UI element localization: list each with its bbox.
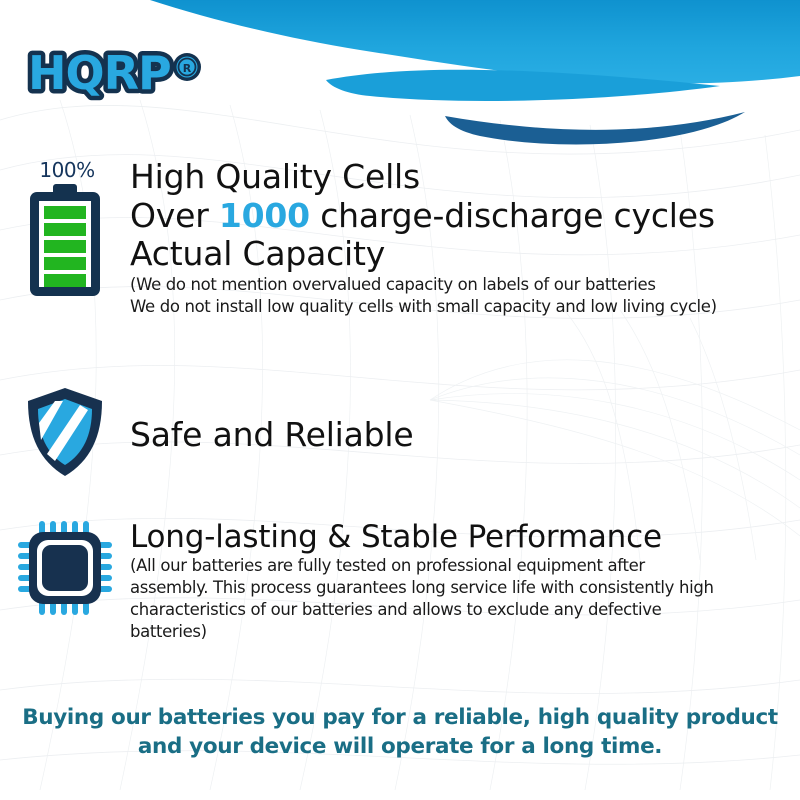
safe-and-reliable-text: Safe and Reliable bbox=[130, 410, 800, 454]
feature-3-headline: Long-lasting & Stable Performance bbox=[130, 520, 786, 555]
feature-3-paragraph-line-4: batteries) bbox=[130, 621, 786, 643]
feature-1-paragraph-line-1: (We do not mention overvalued capacity o… bbox=[130, 274, 786, 296]
registered-trademark-icon: R bbox=[173, 53, 201, 81]
feature-3-paragraph-line-2: assembly. This process guarantees long s… bbox=[130, 577, 786, 599]
feature-1-headline-capacity: Actual Capacity bbox=[130, 235, 786, 273]
feature-safe-and-reliable: Safe and Reliable bbox=[0, 385, 800, 479]
feature-high-quality-cells: 100% High Quality Cells Over 1000 charge… bbox=[0, 158, 800, 318]
chip-icon-column bbox=[0, 520, 130, 616]
cycles-prefix: Over bbox=[130, 196, 219, 235]
infographic-page: HQRP HQRP R 100% bbox=[0, 0, 800, 800]
feature-2-headline: Safe and Reliable bbox=[130, 416, 786, 454]
footer-line-2: and your device will operate for a long … bbox=[0, 732, 800, 762]
feature-3-paragraph-line-1: (All our batteries are fully tested on p… bbox=[130, 555, 786, 577]
battery-full-icon bbox=[26, 184, 104, 296]
feature-1-headline: High Quality Cells bbox=[130, 158, 786, 196]
svg-text:R: R bbox=[183, 62, 192, 75]
feature-1-headline-cycles: Over 1000 charge-discharge cycles bbox=[130, 197, 786, 235]
shield-icon-column bbox=[0, 385, 130, 479]
cpu-chip-icon bbox=[17, 520, 113, 616]
logo-text-fill: HQRP bbox=[28, 46, 171, 100]
high-quality-cells-text: High Quality Cells Over 1000 charge-disc… bbox=[130, 158, 800, 318]
cycles-suffix: charge-discharge cycles bbox=[310, 196, 715, 235]
feature-long-lasting-performance: Long-lasting & Stable Performance (All o… bbox=[0, 520, 800, 643]
feature-1-paragraph-line-2: We do not install low quality cells with… bbox=[130, 296, 786, 318]
long-lasting-text: Long-lasting & Stable Performance (All o… bbox=[130, 520, 800, 643]
battery-icon-column: 100% bbox=[0, 158, 130, 296]
cycles-count: 1000 bbox=[219, 196, 310, 235]
battery-percent-label: 100% bbox=[39, 158, 94, 182]
footer-slogan: Buying our batteries you pay for a relia… bbox=[0, 703, 800, 762]
footer-line-1: Buying our batteries you pay for a relia… bbox=[0, 703, 800, 733]
hqrp-logo: HQRP HQRP R bbox=[26, 45, 226, 107]
shield-icon bbox=[22, 385, 108, 479]
feature-3-paragraph-line-3: characteristics of our batteries and all… bbox=[130, 599, 786, 621]
